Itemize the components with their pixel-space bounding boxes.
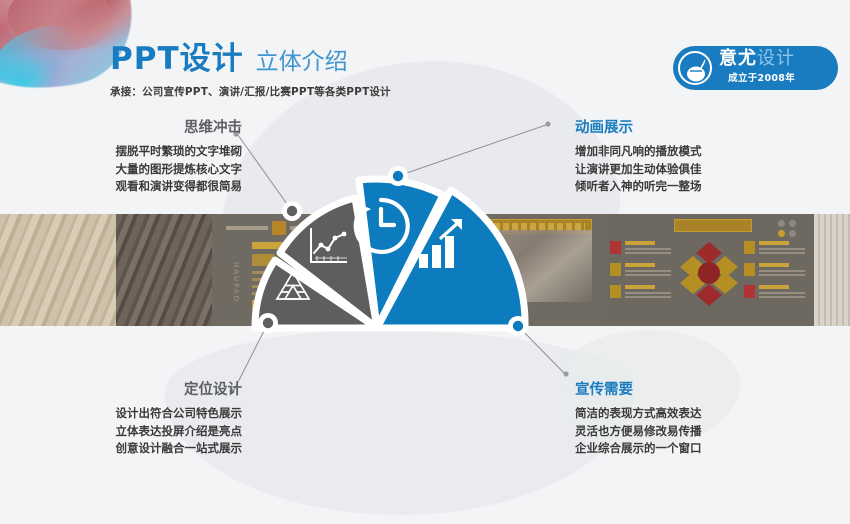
callout-promotion-need: 宣传需要 简洁的表现方式高效表达 灵活也方便易修改易传播 企业综合展示的一个窗口 bbox=[575, 382, 775, 458]
callout-title: 动画展示 bbox=[575, 120, 775, 137]
brand-name-strong: 意尤 bbox=[719, 48, 757, 69]
node-bottom-right[interactable] bbox=[508, 316, 528, 336]
callout-line: 倾听者入神的听完一整场 bbox=[575, 178, 775, 195]
node-top[interactable] bbox=[388, 166, 408, 186]
node-upper-left[interactable] bbox=[282, 201, 302, 221]
callout-line: 大量的图形提炼核心文字 bbox=[52, 161, 242, 178]
page-title: PPT设计 bbox=[110, 44, 244, 75]
semicircle-diagram bbox=[225, 150, 555, 350]
callout-line: 观看和演讲变得都很简易 bbox=[52, 178, 242, 195]
page-header: PPT设计 立体介绍 承接：公司宣传PPT、演讲/汇报/比赛PPT等各类PPT设… bbox=[110, 44, 391, 99]
callout-title: 思维冲击 bbox=[52, 120, 242, 137]
callout-line: 灵活也方便易修改易传播 bbox=[575, 423, 775, 440]
callout-line: 摆脱平时繁琐的文字堆砌 bbox=[52, 143, 242, 160]
callout-line: 增加非同凡响的播放模式 bbox=[575, 143, 775, 160]
callout-line: 立体表达投屏介绍是亮点 bbox=[52, 423, 242, 440]
brand-founded-year: 成立于2008年 bbox=[719, 70, 795, 84]
node-bottom-left[interactable] bbox=[258, 313, 278, 333]
callout-body: 设计出符合公司特色展示 立体表达投屏介绍是亮点 创意设计融合一站式展示 bbox=[52, 405, 242, 457]
callout-line: 企业综合展示的一个窗口 bbox=[575, 440, 775, 457]
header-note: 承接：公司宣传PPT、演讲/汇报/比赛PPT等各类PPT设计 bbox=[110, 84, 391, 99]
brand-name-light: 设计 bbox=[757, 48, 795, 69]
callout-line: 设计出符合公司特色展示 bbox=[52, 405, 242, 422]
brand-logo-text: 意尤设计 成立于2008年 bbox=[719, 50, 795, 85]
callout-line: 让演讲更加生动体验俱佳 bbox=[575, 161, 775, 178]
callout-title: 宣传需要 bbox=[575, 382, 775, 399]
page-subtitle: 立体介绍 bbox=[256, 51, 348, 75]
callout-line: 创意设计融合一站式展示 bbox=[52, 440, 242, 457]
callout-positioning-design: 定位设计 设计出符合公司特色展示 立体表达投屏介绍是亮点 创意设计融合一站式展示 bbox=[52, 382, 242, 458]
callout-animation-display: 动画展示 增加非同凡响的播放模式 让演讲更加生动体验俱佳 倾听者入神的听完一整场 bbox=[575, 120, 775, 196]
callout-line: 简洁的表现方式高效表达 bbox=[575, 405, 775, 422]
brand-logo[interactable]: 意尤设计 成立于2008年 bbox=[673, 46, 838, 90]
infographic-slide: HAUPAO bbox=[0, 0, 850, 524]
callout-body: 摆脱平时繁琐的文字堆砌 大量的图形提炼核心文字 观看和演讲变得都很简易 bbox=[52, 143, 242, 195]
callout-title: 定位设计 bbox=[52, 382, 242, 399]
mouse-badge-icon bbox=[678, 51, 712, 85]
callout-thinking-impact: 思维冲击 摆脱平时繁琐的文字堆砌 大量的图形提炼核心文字 观看和演讲变得都很简易 bbox=[52, 120, 242, 196]
callout-body: 增加非同凡响的播放模式 让演讲更加生动体验俱佳 倾听者入神的听完一整场 bbox=[575, 143, 775, 195]
callout-body: 简洁的表现方式高效表达 灵活也方便易修改易传播 企业综合展示的一个窗口 bbox=[575, 405, 775, 457]
